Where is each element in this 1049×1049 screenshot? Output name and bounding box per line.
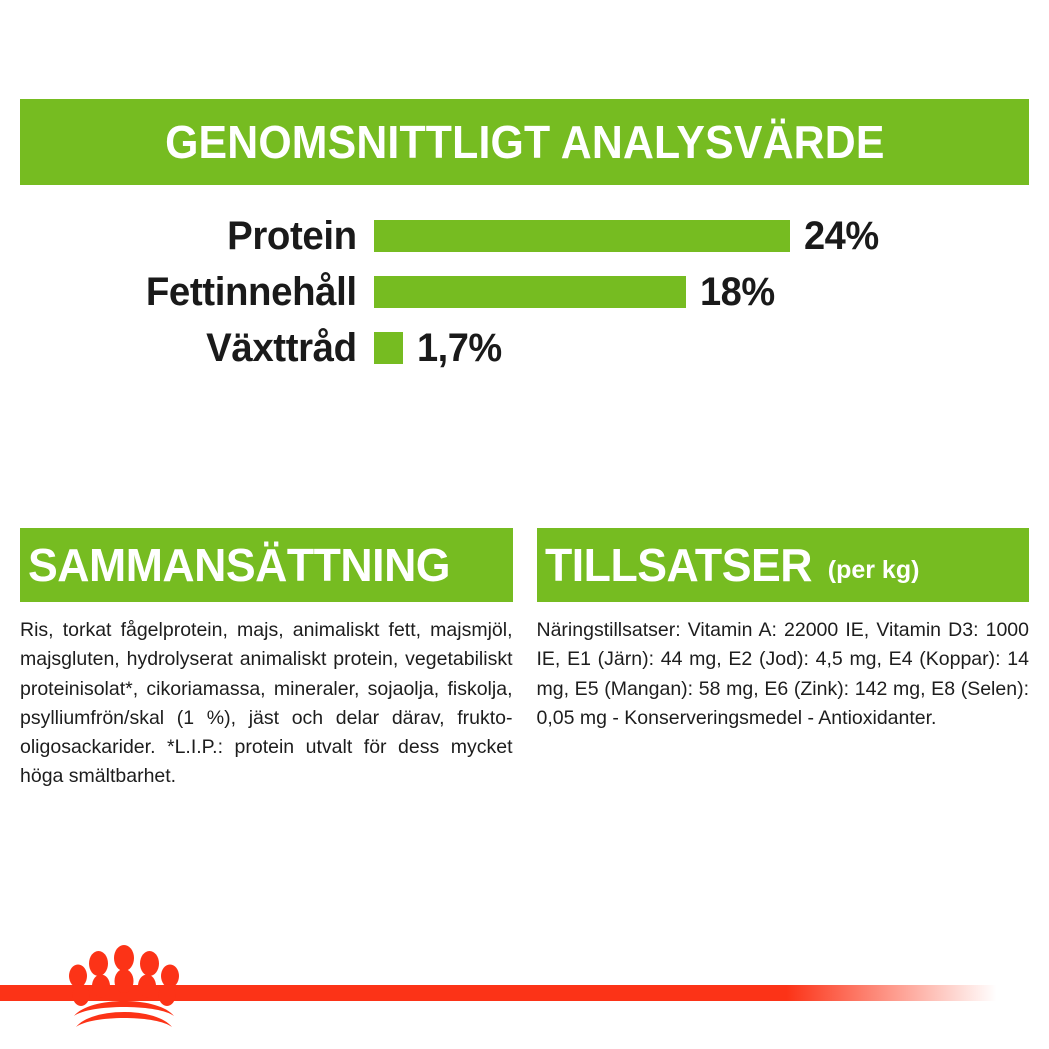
- chart-bar: [374, 220, 790, 252]
- analysis-bar-chart: Protein 24% Fettinnehåll 18% Växttråd 1,…: [20, 208, 1029, 376]
- additives-title-suffix: (per kg): [828, 558, 920, 602]
- info-columns: SAMMANSÄTTNING Ris, torkat fågelprotein,…: [20, 528, 1029, 792]
- chart-bar-wrap: 1,7%: [374, 328, 1029, 368]
- analysis-header-banner: GENOMSNITTLIGT ANALYSVÄRDE: [20, 99, 1029, 185]
- composition-body-text: Ris, torkat fågelprotein, majs, animalis…: [20, 616, 513, 792]
- chart-row: Protein 24%: [20, 208, 1029, 264]
- chart-category-label: Växttråd: [34, 328, 374, 368]
- chart-value-label: 18%: [700, 272, 775, 312]
- chart-value-label: 1,7%: [417, 328, 502, 368]
- nutrition-info-panel: GENOMSNITTLIGT ANALYSVÄRDE Protein 24% F…: [0, 0, 1049, 1049]
- chart-bar: [374, 332, 403, 364]
- composition-title: SAMMANSÄTTNING: [28, 542, 450, 588]
- chart-category-label: Protein: [34, 216, 374, 256]
- chart-row: Fettinnehåll 18%: [20, 264, 1029, 320]
- additives-column: TILLSATSER (per kg) Näringstillsatser: V…: [537, 528, 1030, 792]
- chart-bar-wrap: 18%: [374, 272, 1029, 312]
- chart-bar: [374, 276, 686, 308]
- composition-header-banner: SAMMANSÄTTNING: [20, 528, 513, 602]
- royal-canin-crown-icon: [68, 945, 180, 1031]
- chart-category-label: Fettinnehåll: [34, 272, 374, 312]
- footer: [0, 930, 1049, 1049]
- additives-body-text: Näringstillsatser: Vitamin A: 22000 IE, …: [537, 616, 1030, 733]
- additives-header-banner: TILLSATSER (per kg): [537, 528, 1030, 602]
- chart-row: Växttråd 1,7%: [20, 320, 1029, 376]
- additives-title: TILLSATSER: [545, 542, 812, 588]
- page-title: GENOMSNITTLIGT ANALYSVÄRDE: [165, 119, 884, 165]
- chart-value-label: 24%: [804, 216, 879, 256]
- chart-bar-wrap: 24%: [374, 216, 1029, 256]
- composition-column: SAMMANSÄTTNING Ris, torkat fågelprotein,…: [20, 528, 513, 792]
